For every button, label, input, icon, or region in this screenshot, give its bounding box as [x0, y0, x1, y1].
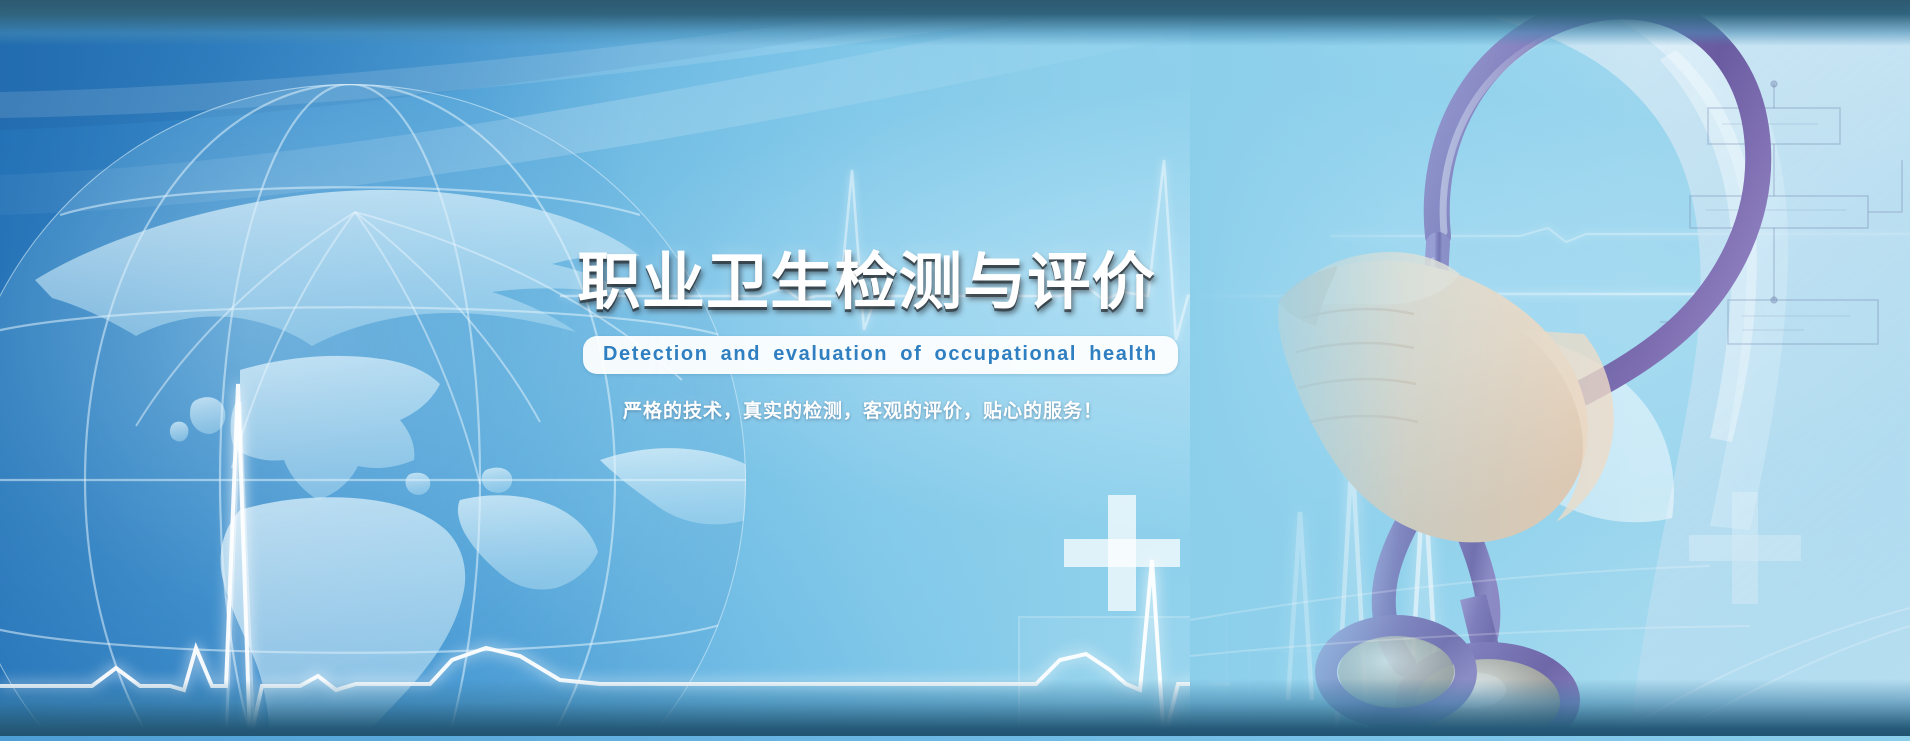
- ghost-panel-right: [1248, 650, 1428, 741]
- ghost-panel-left: [1018, 616, 1228, 736]
- banner-text-block: 职业卫生检测与评价 Detection and evaluation of oc…: [583, 250, 1143, 423]
- top-dark-band: [0, 0, 1910, 46]
- banner-subtitle-pill: Detection and evaluation of occupational…: [583, 336, 1178, 374]
- banner-tagline: 严格的技术，真实的检测，客观的评价，贴心的服务！: [583, 396, 1143, 423]
- bottom-dark-band: [0, 679, 1910, 741]
- bottom-accent-rule: [0, 736, 1910, 741]
- banner-title: 职业卫生检测与评价: [577, 250, 1148, 316]
- banner-subtitle-en: Detection and evaluation of occupational…: [603, 343, 1158, 366]
- medical-cross-icon-left: [1064, 495, 1180, 611]
- doctor-photo: [1190, 0, 1910, 741]
- occupational-health-banner: 职业卫生检测与评价 Detection and evaluation of oc…: [0, 0, 1910, 741]
- medical-cross-icon-right: [1689, 492, 1801, 604]
